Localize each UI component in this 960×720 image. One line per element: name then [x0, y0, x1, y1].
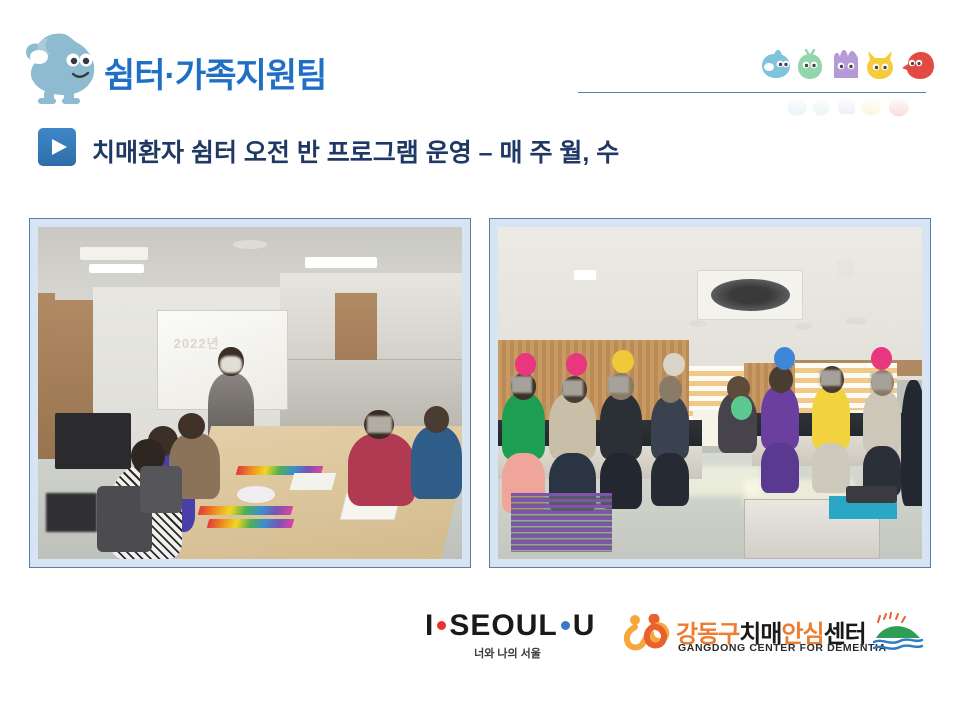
- seoul-u: U: [573, 609, 596, 642]
- i-seoul-u-logo: ISEOULU 너와 나의 서울: [425, 610, 590, 662]
- decorative-mascot-row: [758, 48, 938, 82]
- footer-logos: ISEOULU 너와 나의 서울 강동구치매안심센터 GANGDONG CENT…: [0, 600, 960, 670]
- decorative-mascot-reflection: [758, 96, 938, 120]
- photo-frame-right: [489, 218, 931, 568]
- gangdong-english-name: GANGDONG CENTER FOR DEMENTIA: [678, 642, 887, 654]
- play-triangle-icon: [38, 128, 76, 166]
- purple-mascot-icon: [834, 50, 858, 78]
- slide-header: 쉼터·가족지원팀: [0, 0, 960, 112]
- photo-frame-left: 2022년: [29, 218, 471, 568]
- two-people-infinity-icon: [624, 614, 670, 652]
- yellow-mascot-icon: [867, 51, 893, 79]
- slide-root: 쉼터·가족지원팀: [0, 0, 960, 720]
- whiteboard-text: 2022년: [174, 333, 220, 352]
- page-title: 쉼터·가족지원팀: [104, 48, 326, 97]
- sun-hill-water-emblem-icon: [870, 612, 926, 652]
- gangdong-dementia-center-logo: 강동구치매안심센터 GANGDONG CENTER FOR DEMENTIA: [624, 608, 924, 662]
- header-divider-line: [578, 92, 926, 93]
- seoul-i: I: [425, 609, 434, 642]
- seoul-seoul: SEOUL: [449, 609, 557, 642]
- seoul-dot-blue: [561, 621, 570, 630]
- red-mascot-icon: [902, 52, 934, 79]
- blue-mascot-icon: [762, 50, 790, 78]
- stacked-exercise-mats: [511, 493, 613, 553]
- subtitle-text: 치매환자 쉼터 오전 반 프로그램 운영 – 매 주 월, 수: [92, 133, 619, 169]
- photo-left: 2022년: [38, 227, 462, 559]
- ceiling-air-conditioner: [697, 270, 803, 320]
- i-seoul-u-tagline: 너와 나의 서울: [425, 645, 590, 661]
- blue-blob-mascot-icon: [18, 30, 110, 106]
- photo-right: [498, 227, 922, 559]
- green-mascot-icon: [798, 50, 822, 79]
- i-seoul-u-wordmark: ISEOULU: [425, 610, 590, 642]
- seoul-dot-red: [437, 621, 446, 630]
